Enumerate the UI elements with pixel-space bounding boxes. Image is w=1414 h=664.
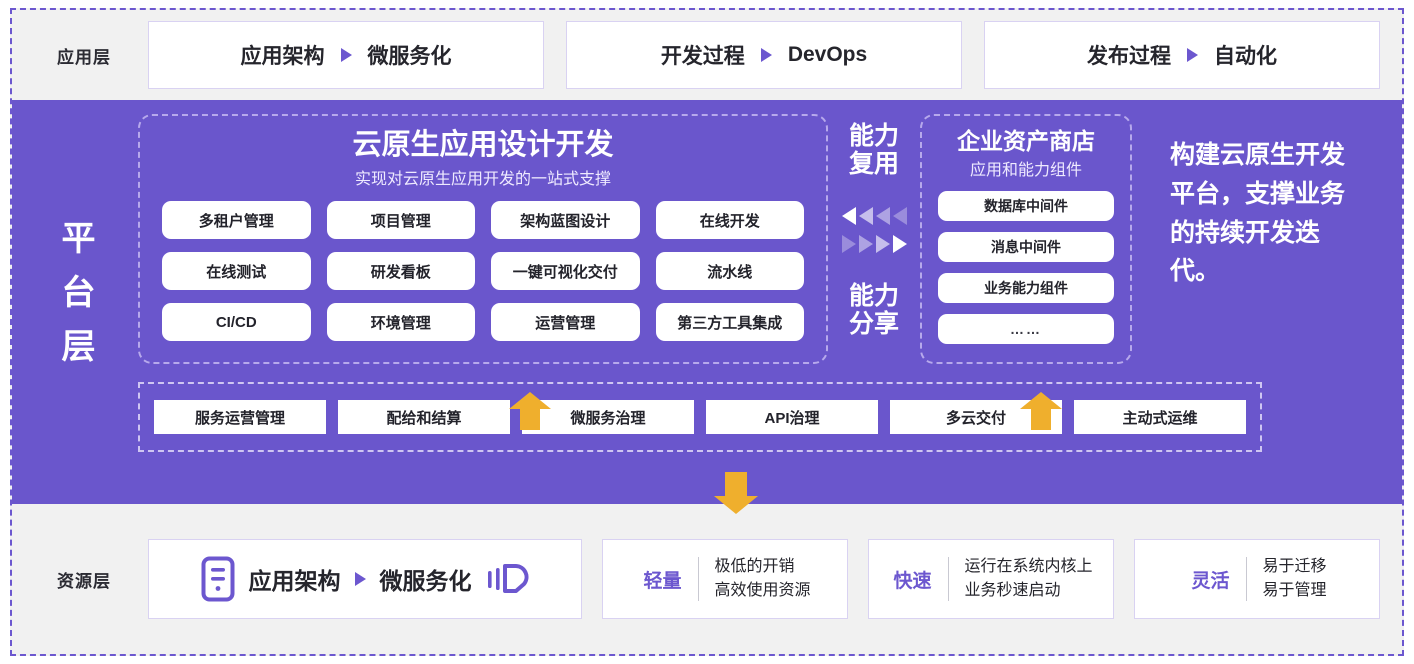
dev-item-2[interactable]: 架构蓝图设计 bbox=[491, 201, 640, 239]
store-item-2[interactable]: 业务能力组件 bbox=[938, 273, 1114, 303]
capability-reuse-label: 能力 复用 bbox=[849, 122, 899, 178]
store-item-3[interactable]: …… bbox=[938, 314, 1114, 344]
dev-item-4[interactable]: 在线测试 bbox=[162, 252, 311, 290]
app-card-architecture-left: 应用架构 bbox=[241, 40, 325, 70]
triangle-right-icon bbox=[842, 235, 856, 253]
speed-cloud-icon bbox=[486, 560, 530, 598]
platform-layer: 平台层 云原生应用设计开发 实现对云原生应用开发的一站式支撑 多租户管理 项目管… bbox=[12, 100, 1402, 504]
dev-item-6[interactable]: 一键可视化交付 bbox=[491, 252, 640, 290]
feature-card-lightweight[interactable]: 轻量 极低的开销 高效使用资源 bbox=[602, 539, 848, 619]
resource-main-right: 微服务化 bbox=[380, 562, 472, 596]
dev-item-9[interactable]: 环境管理 bbox=[327, 303, 476, 341]
resource-layer-label: 资源层 bbox=[30, 567, 138, 592]
app-card-architecture[interactable]: 应用架构 微服务化 bbox=[148, 21, 544, 89]
store-item-0[interactable]: 数据库中间件 bbox=[938, 191, 1114, 221]
resource-main-card[interactable]: 应用架构 微服务化 bbox=[148, 539, 582, 619]
gold-arrow-up-icon bbox=[520, 408, 540, 430]
capability-share-line2: 分享 bbox=[849, 310, 899, 338]
cloud-native-dev-panel: 云原生应用设计开发 实现对云原生应用开发的一站式支撑 多租户管理 项目管理 架构… bbox=[138, 114, 828, 364]
feature-desc-lightweight-line1: 极低的开销 bbox=[715, 558, 795, 575]
feature-card-flexible[interactable]: 灵活 易于迁移 易于管理 bbox=[1134, 539, 1380, 619]
platform-layer-label: 平台层 bbox=[58, 220, 92, 382]
ops-item-5[interactable]: 主动式运维 bbox=[1074, 400, 1246, 434]
triangle-right-icon bbox=[761, 48, 772, 62]
dev-item-5[interactable]: 研发看板 bbox=[327, 252, 476, 290]
app-card-architecture-right: 微服务化 bbox=[368, 40, 452, 70]
capability-share-line1: 能力 bbox=[849, 282, 899, 310]
feature-desc-fast-line2: 业务秒速启动 bbox=[965, 582, 1061, 599]
resource-main-left: 应用架构 bbox=[249, 562, 341, 596]
app-card-devprocess[interactable]: 开发过程 DevOps bbox=[566, 21, 962, 89]
dev-panel-grid: 多租户管理 项目管理 架构蓝图设计 在线开发 在线测试 研发看板 一键可视化交付… bbox=[162, 201, 804, 341]
triangle-right-icon bbox=[859, 235, 873, 253]
ops-item-1[interactable]: 配给和结算 bbox=[338, 400, 510, 434]
dev-item-7[interactable]: 流水线 bbox=[656, 252, 805, 290]
operations-strip: 服务运营管理 配给和结算 微服务治理 API治理 多云交付 主动式运维 bbox=[138, 382, 1262, 452]
feature-desc-fast: 运行在系统内核上 业务秒速启动 bbox=[949, 555, 1105, 603]
capability-reuse-share-column: 能力 复用 bbox=[828, 114, 920, 364]
triangle-right-icon bbox=[893, 235, 907, 253]
feature-desc-lightweight-line2: 高效使用资源 bbox=[715, 582, 811, 599]
dev-item-10[interactable]: 运营管理 bbox=[491, 303, 640, 341]
capability-reuse-line1: 能力 bbox=[849, 122, 899, 150]
application-cards: 应用架构 微服务化 开发过程 DevOps 发布过程 自动化 bbox=[138, 21, 1380, 89]
triangle-left-icon bbox=[842, 207, 856, 225]
feature-key-flexible: 灵活 bbox=[1175, 566, 1245, 593]
capability-share-label: 能力 分享 bbox=[849, 282, 899, 338]
outer-dashed-frame: 应用层 应用架构 微服务化 开发过程 DevOps 发布过程 自动化 bbox=[10, 8, 1404, 656]
feature-key-lightweight: 轻量 bbox=[627, 566, 697, 593]
feature-desc-flexible-line2: 易于管理 bbox=[1263, 582, 1327, 599]
gold-arrow-up-icon bbox=[1031, 408, 1051, 430]
dev-item-0[interactable]: 多租户管理 bbox=[162, 201, 311, 239]
left-arrow-group bbox=[842, 207, 907, 225]
app-card-release-left: 发布过程 bbox=[1087, 40, 1171, 70]
platform-body: 云原生应用设计开发 实现对云原生应用开发的一站式支撑 多租户管理 项目管理 架构… bbox=[138, 114, 1382, 488]
dev-panel-subtitle: 实现对云原生应用开发的一站式支撑 bbox=[162, 165, 804, 189]
resource-cards: 应用架构 微服务化 轻量 极低的开销 bbox=[138, 539, 1380, 619]
platform-layer-label-wrap: 平台层 bbox=[12, 114, 138, 488]
arrow-group bbox=[842, 205, 907, 255]
feature-desc-fast-line1: 运行在系统内核上 bbox=[965, 558, 1093, 575]
app-card-release[interactable]: 发布过程 自动化 bbox=[984, 21, 1380, 89]
architecture-diagram: 应用层 应用架构 微服务化 开发过程 DevOps 发布过程 自动化 bbox=[0, 0, 1414, 664]
store-panel-list: 数据库中间件 消息中间件 业务能力组件 …… bbox=[938, 191, 1114, 344]
dev-item-11[interactable]: 第三方工具集成 bbox=[656, 303, 805, 341]
gold-arrow-down-icon bbox=[725, 472, 747, 496]
store-panel-subtitle: 应用和能力组件 bbox=[938, 156, 1114, 180]
app-card-release-right: 自动化 bbox=[1214, 40, 1277, 70]
feature-desc-flexible: 易于迁移 易于管理 bbox=[1247, 555, 1339, 603]
feature-desc-lightweight: 极低的开销 高效使用资源 bbox=[699, 555, 823, 603]
application-layer-label: 应用层 bbox=[30, 43, 138, 68]
feature-key-fast: 快速 bbox=[877, 566, 947, 593]
feature-card-fast[interactable]: 快速 运行在系统内核上 业务秒速启动 bbox=[868, 539, 1114, 619]
app-card-devprocess-right: DevOps bbox=[788, 43, 867, 67]
right-arrow-group bbox=[842, 235, 907, 253]
dev-panel-title: 云原生应用设计开发 bbox=[162, 128, 804, 162]
dev-item-8[interactable]: CI/CD bbox=[162, 303, 311, 341]
ops-item-3[interactable]: API治理 bbox=[706, 400, 878, 434]
ops-item-0[interactable]: 服务运营管理 bbox=[154, 400, 326, 434]
dev-item-3[interactable]: 在线开发 bbox=[656, 201, 805, 239]
triangle-right-icon bbox=[355, 572, 366, 586]
platform-slogan: 构建云原生开发平台，支撑业务的持续开发迭代。 bbox=[1170, 136, 1360, 291]
triangle-left-icon bbox=[876, 207, 890, 225]
triangle-left-icon bbox=[859, 207, 873, 225]
store-panel-title: 企业资产商店 bbox=[938, 128, 1114, 154]
capability-reuse-line2: 复用 bbox=[849, 150, 899, 178]
app-card-devprocess-left: 开发过程 bbox=[661, 40, 745, 70]
dev-item-1[interactable]: 项目管理 bbox=[327, 201, 476, 239]
server-icon bbox=[201, 556, 235, 602]
triangle-right-icon bbox=[1187, 48, 1198, 62]
triangle-left-icon bbox=[893, 207, 907, 225]
triangle-right-icon bbox=[876, 235, 890, 253]
triangle-right-icon bbox=[341, 48, 352, 62]
platform-top-row: 云原生应用设计开发 实现对云原生应用开发的一站式支撑 多租户管理 项目管理 架构… bbox=[138, 114, 1382, 364]
feature-desc-flexible-line1: 易于迁移 bbox=[1263, 558, 1327, 575]
platform-slogan-wrap: 构建云原生开发平台，支撑业务的持续开发迭代。 bbox=[1132, 114, 1382, 364]
resource-layer: 资源层 应用架构 微服务 bbox=[12, 504, 1402, 654]
store-item-1[interactable]: 消息中间件 bbox=[938, 232, 1114, 262]
enterprise-asset-store-panel: 企业资产商店 应用和能力组件 数据库中间件 消息中间件 业务能力组件 …… bbox=[920, 114, 1132, 364]
application-layer: 应用层 应用架构 微服务化 开发过程 DevOps 发布过程 自动化 bbox=[12, 10, 1402, 100]
